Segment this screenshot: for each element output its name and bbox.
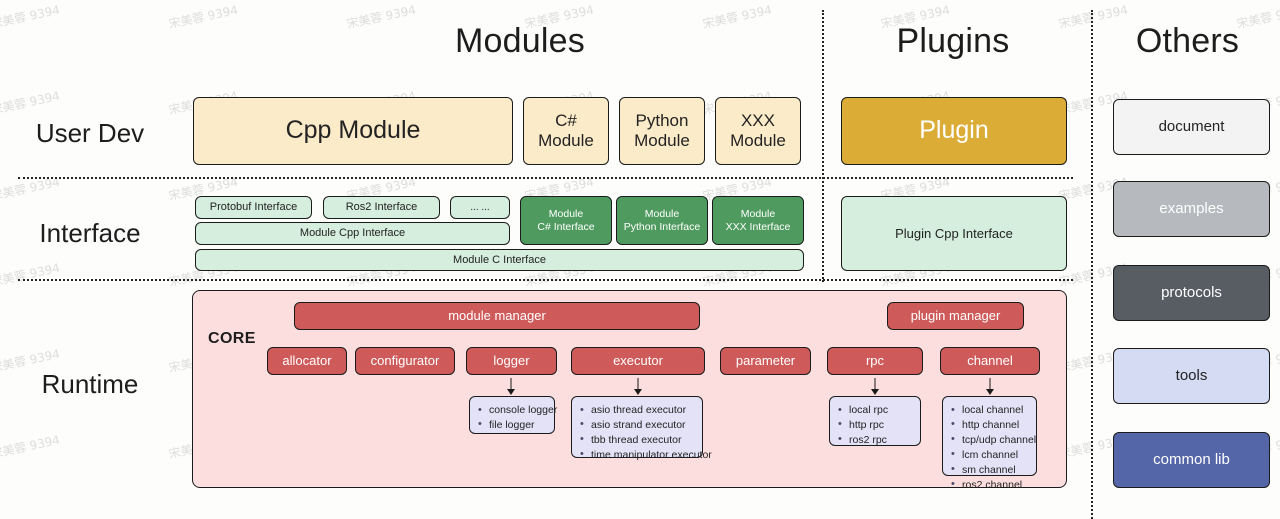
watermark: 宋美蓉 9394 (0, 1, 61, 32)
divider-modules-plugins (822, 10, 824, 282)
module-box-xxx[interactable]: XXX Module (715, 97, 801, 165)
list-item: ros2 rpc (849, 433, 912, 448)
list-item: sm channel (962, 463, 1028, 478)
list-item: http rpc (849, 418, 912, 433)
list-item: asio thread executor (591, 403, 694, 418)
others-item-tools[interactable]: tools (1113, 348, 1270, 404)
core-detail-rpc-list: local rpchttp rpcros2 rpc (836, 403, 912, 448)
list-item: file logger (489, 418, 546, 433)
interface-box-module-c[interactable]: Module C Interface (195, 249, 804, 271)
core-plugin-manager[interactable]: plugin manager (887, 302, 1024, 330)
interface-box-module-cpp[interactable]: Module Cpp Interface (195, 222, 510, 245)
arrow-executor-down (632, 378, 644, 394)
diagram-canvas: 宋美蓉 9394宋美蓉 9394宋美蓉 9394宋美蓉 9394宋美蓉 9394… (0, 0, 1280, 519)
list-item: tcp/udp channel (962, 433, 1028, 448)
core-detail-channel: local channelhttp channeltcp/udp channel… (942, 396, 1037, 476)
core-detail-executor-list: asio thread executorasio strand executor… (578, 403, 694, 463)
row-label-interface: Interface (0, 218, 180, 249)
core-component-logger[interactable]: logger (466, 347, 557, 375)
arrow-channel-down (984, 378, 996, 394)
core-component-configurator[interactable]: configurator (355, 347, 455, 375)
module-box-csharp[interactable]: C# Module (523, 97, 609, 165)
others-item-protocols[interactable]: protocols (1113, 265, 1270, 321)
list-item: ros2 channel (962, 478, 1028, 493)
arrow-rpc-down (869, 378, 881, 394)
divider-userdev-interface (18, 177, 1073, 179)
list-item: console logger (489, 403, 546, 418)
interface-box-protobuf[interactable]: Protobuf Interface (195, 196, 312, 219)
interface-box-module-xxx[interactable]: Module XXX Interface (712, 196, 804, 245)
core-detail-executor: asio thread executorasio strand executor… (571, 396, 703, 458)
core-detail-logger: console loggerfile logger (469, 396, 555, 434)
arrow-logger-down (505, 378, 517, 394)
interface-box-ros2[interactable]: Ros2 Interface (323, 196, 440, 219)
list-item: time manipulator executor (591, 448, 694, 463)
list-item: local rpc (849, 403, 912, 418)
others-item-common-lib[interactable]: common lib (1113, 432, 1270, 488)
interface-box-plugin-cpp[interactable]: Plugin Cpp Interface (841, 196, 1067, 271)
module-box-cpp[interactable]: Cpp Module (193, 97, 513, 165)
list-item: local channel (962, 403, 1028, 418)
watermark: 宋美蓉 9394 (0, 259, 61, 290)
core-module-manager[interactable]: module manager (294, 302, 700, 330)
row-label-user-dev: User Dev (0, 118, 180, 149)
plugin-box[interactable]: Plugin (841, 97, 1067, 165)
divider-plugins-others (1091, 10, 1093, 519)
core-component-executor[interactable]: executor (571, 347, 705, 375)
watermark: 宋美蓉 9394 (167, 1, 239, 32)
divider-interface-runtime (18, 279, 1073, 281)
list-item: tbb thread executor (591, 433, 694, 448)
core-detail-logger-list: console loggerfile logger (476, 403, 546, 433)
others-item-document[interactable]: document (1113, 99, 1270, 155)
module-box-python[interactable]: Python Module (619, 97, 705, 165)
watermark: 宋美蓉 9394 (0, 87, 61, 118)
others-item-examples[interactable]: examples (1113, 181, 1270, 237)
list-item: http channel (962, 418, 1028, 433)
list-item: asio strand executor (591, 418, 694, 433)
list-item: lcm channel (962, 448, 1028, 463)
column-title-modules: Modules (280, 22, 760, 61)
core-component-rpc[interactable]: rpc (827, 347, 923, 375)
core-component-parameter[interactable]: parameter (720, 347, 811, 375)
watermark: 宋美蓉 9394 (0, 431, 61, 462)
interface-box-more[interactable]: ... ... (450, 196, 510, 219)
core-detail-rpc: local rpchttp rpcros2 rpc (829, 396, 921, 446)
core-label: CORE (208, 330, 256, 348)
core-component-allocator[interactable]: allocator (267, 347, 347, 375)
column-title-others: Others (1100, 22, 1275, 61)
core-component-channel[interactable]: channel (940, 347, 1040, 375)
column-title-plugins: Plugins (833, 22, 1073, 61)
interface-box-module-csharp[interactable]: Module C# Interface (520, 196, 612, 245)
core-detail-channel-list: local channelhttp channeltcp/udp channel… (949, 403, 1028, 492)
row-label-runtime: Runtime (0, 369, 180, 400)
interface-box-module-python[interactable]: Module Python Interface (616, 196, 708, 245)
